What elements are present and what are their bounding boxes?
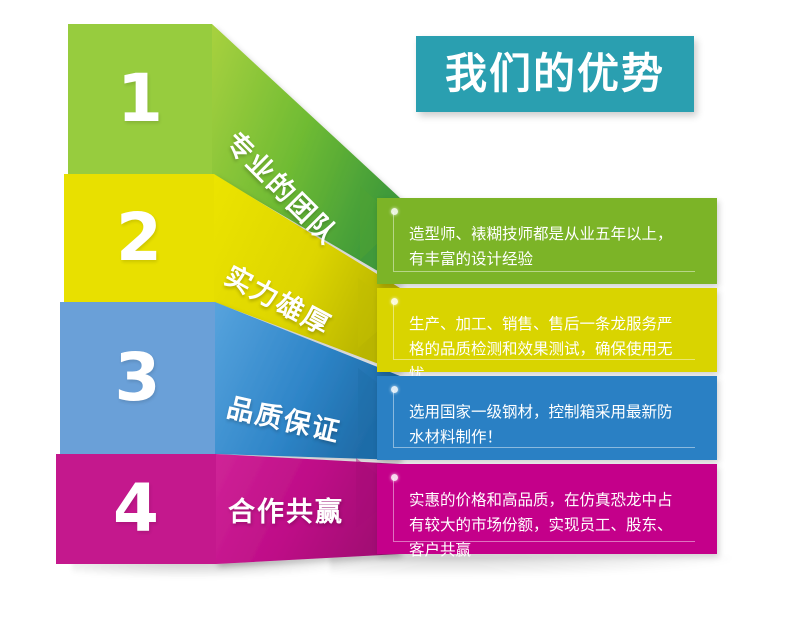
panel-text-1: 造型师、裱糊技师都是从业五年以上，有丰富的设计经验 xyxy=(409,222,683,272)
panel-dot-icon-4 xyxy=(391,474,398,481)
text-panel-4: 实惠的价格和高品质，在仿真恐龙中占有较大的市场份额，实现员工、股东、客户共赢 xyxy=(377,464,717,554)
panel-dot-icon-2 xyxy=(391,298,398,305)
text-panel-3: 选用国家一级钢材，控制箱采用最新防水材料制作！ xyxy=(377,376,717,460)
band-label-4: 合作共赢 xyxy=(228,490,344,529)
text-panel-1: 造型师、裱糊技师都是从业五年以上，有丰富的设计经验 xyxy=(377,198,717,284)
band-label-3: 品质保证 xyxy=(224,385,346,449)
panel-dot-icon-1 xyxy=(391,208,398,215)
band-label-1: 专业的团队 xyxy=(218,122,348,252)
number-label-3: 3 xyxy=(115,345,161,411)
number-label-4: 4 xyxy=(113,476,159,542)
number-block-3: 3 xyxy=(60,302,215,454)
number-label-2: 2 xyxy=(116,205,162,271)
number-block-2: 2 xyxy=(64,174,214,302)
panel-text-4: 实惠的价格和高品质，在仿真恐龙中占有较大的市场份额，实现员工、股东、客户共赢 xyxy=(409,488,683,562)
text-panel-2: 生产、加工、销售、售后一条龙服务严格的品质检测和效果测试，确保使用无忧 xyxy=(377,288,717,372)
number-block-4: 4 xyxy=(56,454,216,564)
panel-text-3: 选用国家一级钢材，控制箱采用最新防水材料制作！ xyxy=(409,400,683,450)
number-label-1: 1 xyxy=(117,66,163,132)
panel-dot-icon-3 xyxy=(391,386,398,393)
number-block-1: 1 xyxy=(68,24,212,174)
infographic-canvas: 1 2 3 4 专业的团队 实力雄厚 品质保证 合作共赢 我们的优势 造型师、裱… xyxy=(0,0,800,622)
page-title: 我们的优势 xyxy=(445,53,665,95)
title-banner: 我们的优势 xyxy=(416,36,694,112)
band-label-2: 实力雄厚 xyxy=(219,254,340,343)
